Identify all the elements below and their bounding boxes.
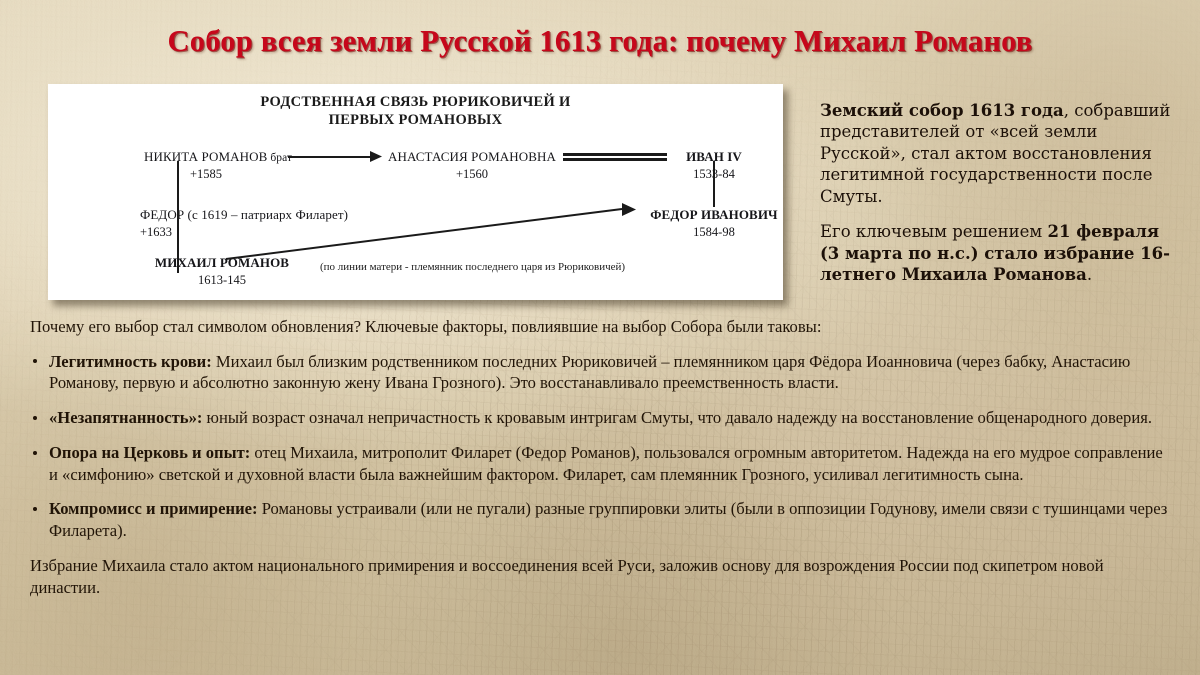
list-item-strong: Опора на Церковь и опыт: bbox=[49, 443, 250, 462]
slide-root: Собор всея земли Русской 1613 года: поче… bbox=[0, 0, 1200, 675]
edge-marriage-anastasia-ivan-upper bbox=[563, 153, 667, 156]
diagram-canvas: НИКИТА РОМАНОВ брат +1585 АНАСТАСИЯ РОМА… bbox=[48, 129, 783, 279]
bullet-dot-icon bbox=[33, 451, 37, 455]
sidebar-p2-lead: Его ключевым решением bbox=[820, 222, 1047, 241]
sidebar-paragraph-1: Земский собор 1613 года, собравший предс… bbox=[820, 100, 1178, 207]
edge-marriage-anastasia-ivan-lower bbox=[563, 158, 667, 161]
diagram-node-dates: 1584-98 bbox=[640, 225, 788, 240]
page-title: Собор всея земли Русской 1613 года: поче… bbox=[168, 24, 1033, 59]
genealogy-diagram-panel: РОДСТВЕННАЯ СВЯЗЬ РЮРИКОВИЧЕЙ И ПЕРВЫХ Р… bbox=[48, 84, 783, 300]
list-item-strong: Легитимность крови: bbox=[49, 352, 212, 371]
diagram-node-name: АНАСТАСИЯ РОМАНОВНА bbox=[381, 149, 563, 165]
edge-ivan-to-fedor-ivanovich-vertical bbox=[713, 161, 715, 207]
diagram-node-dates: 1613-145 bbox=[140, 273, 304, 288]
list-item-strong: «Незапятнанность»: bbox=[49, 408, 202, 427]
list-item: Опора на Церковь и опыт: отец Михаила, м… bbox=[30, 442, 1175, 485]
arrowhead-nikita-to-anastasia bbox=[370, 149, 384, 165]
bullet-dot-icon bbox=[33, 507, 37, 511]
list-item: Легитимность крови: Михаил был близким р… bbox=[30, 351, 1175, 394]
body-closing-paragraph: Избрание Михаила стало актом национально… bbox=[30, 555, 1175, 598]
diagram-node-fedor-ivanovich: ФЕДОР ИВАНОВИЧ 1584-98 bbox=[640, 207, 788, 240]
sidebar-summary: Земский собор 1613 года, собравший предс… bbox=[820, 100, 1178, 300]
diagram-node-anastasia-romanovna: АНАСТАСИЯ РОМАНОВНА +1560 bbox=[381, 149, 563, 182]
edge-nikita-descent-vertical bbox=[177, 161, 179, 273]
body-lead-paragraph: Почему его выбор стал символом обновлени… bbox=[30, 316, 1175, 338]
diagram-node-dates: +1585 bbox=[190, 167, 292, 182]
list-item: «Незапятнанность»: юный возраст означал … bbox=[30, 407, 1175, 429]
diagram-node-name: ФЕДОР ИВАНОВИЧ bbox=[640, 207, 788, 223]
factors-list: Легитимность крови: Михаил был близким р… bbox=[30, 351, 1175, 542]
edge-nikita-to-anastasia bbox=[288, 156, 376, 158]
bullet-dot-icon bbox=[33, 359, 37, 363]
sidebar-p2-tail: . bbox=[1087, 265, 1092, 284]
body-copy: Почему его выбор стал символом обновлени… bbox=[30, 316, 1175, 598]
diagram-heading-line-2: ПЕРВЫХ РОМАНОВЫХ bbox=[48, 112, 783, 130]
slide-title-band: Собор всея земли Русской 1613 года: поче… bbox=[0, 24, 1200, 59]
list-item-strong: Компромисс и примирение: bbox=[49, 499, 258, 518]
diagram-heading-line-1: РОДСТВЕННАЯ СВЯЗЬ РЮРИКОВИЧЕЙ И bbox=[48, 94, 783, 112]
list-item-text: юный возраст означал непричастность к кр… bbox=[202, 408, 1152, 427]
sidebar-p1-strong: Земский собор 1613 года bbox=[820, 101, 1064, 120]
diagram-node-nikita-romanov: НИКИТА РОМАНОВ брат +1585 bbox=[144, 149, 292, 182]
list-item: Компромисс и примирение: Романовы устраи… bbox=[30, 498, 1175, 541]
sidebar-paragraph-2: Его ключевым решением 21 февраля (3 март… bbox=[820, 221, 1178, 285]
bullet-dot-icon bbox=[33, 416, 37, 420]
diagram-node-dates: +1560 bbox=[381, 167, 563, 182]
diagram-heading: РОДСТВЕННАЯ СВЯЗЬ РЮРИКОВИЧЕЙ И ПЕРВЫХ Р… bbox=[48, 84, 783, 129]
list-item-text: Михаил был близким родственником последн… bbox=[49, 352, 1130, 393]
diagram-node-name: НИКИТА РОМАНОВ брат bbox=[144, 149, 292, 165]
edge-mikhail-to-fedor-ivanovich-diagonal bbox=[224, 201, 638, 263]
